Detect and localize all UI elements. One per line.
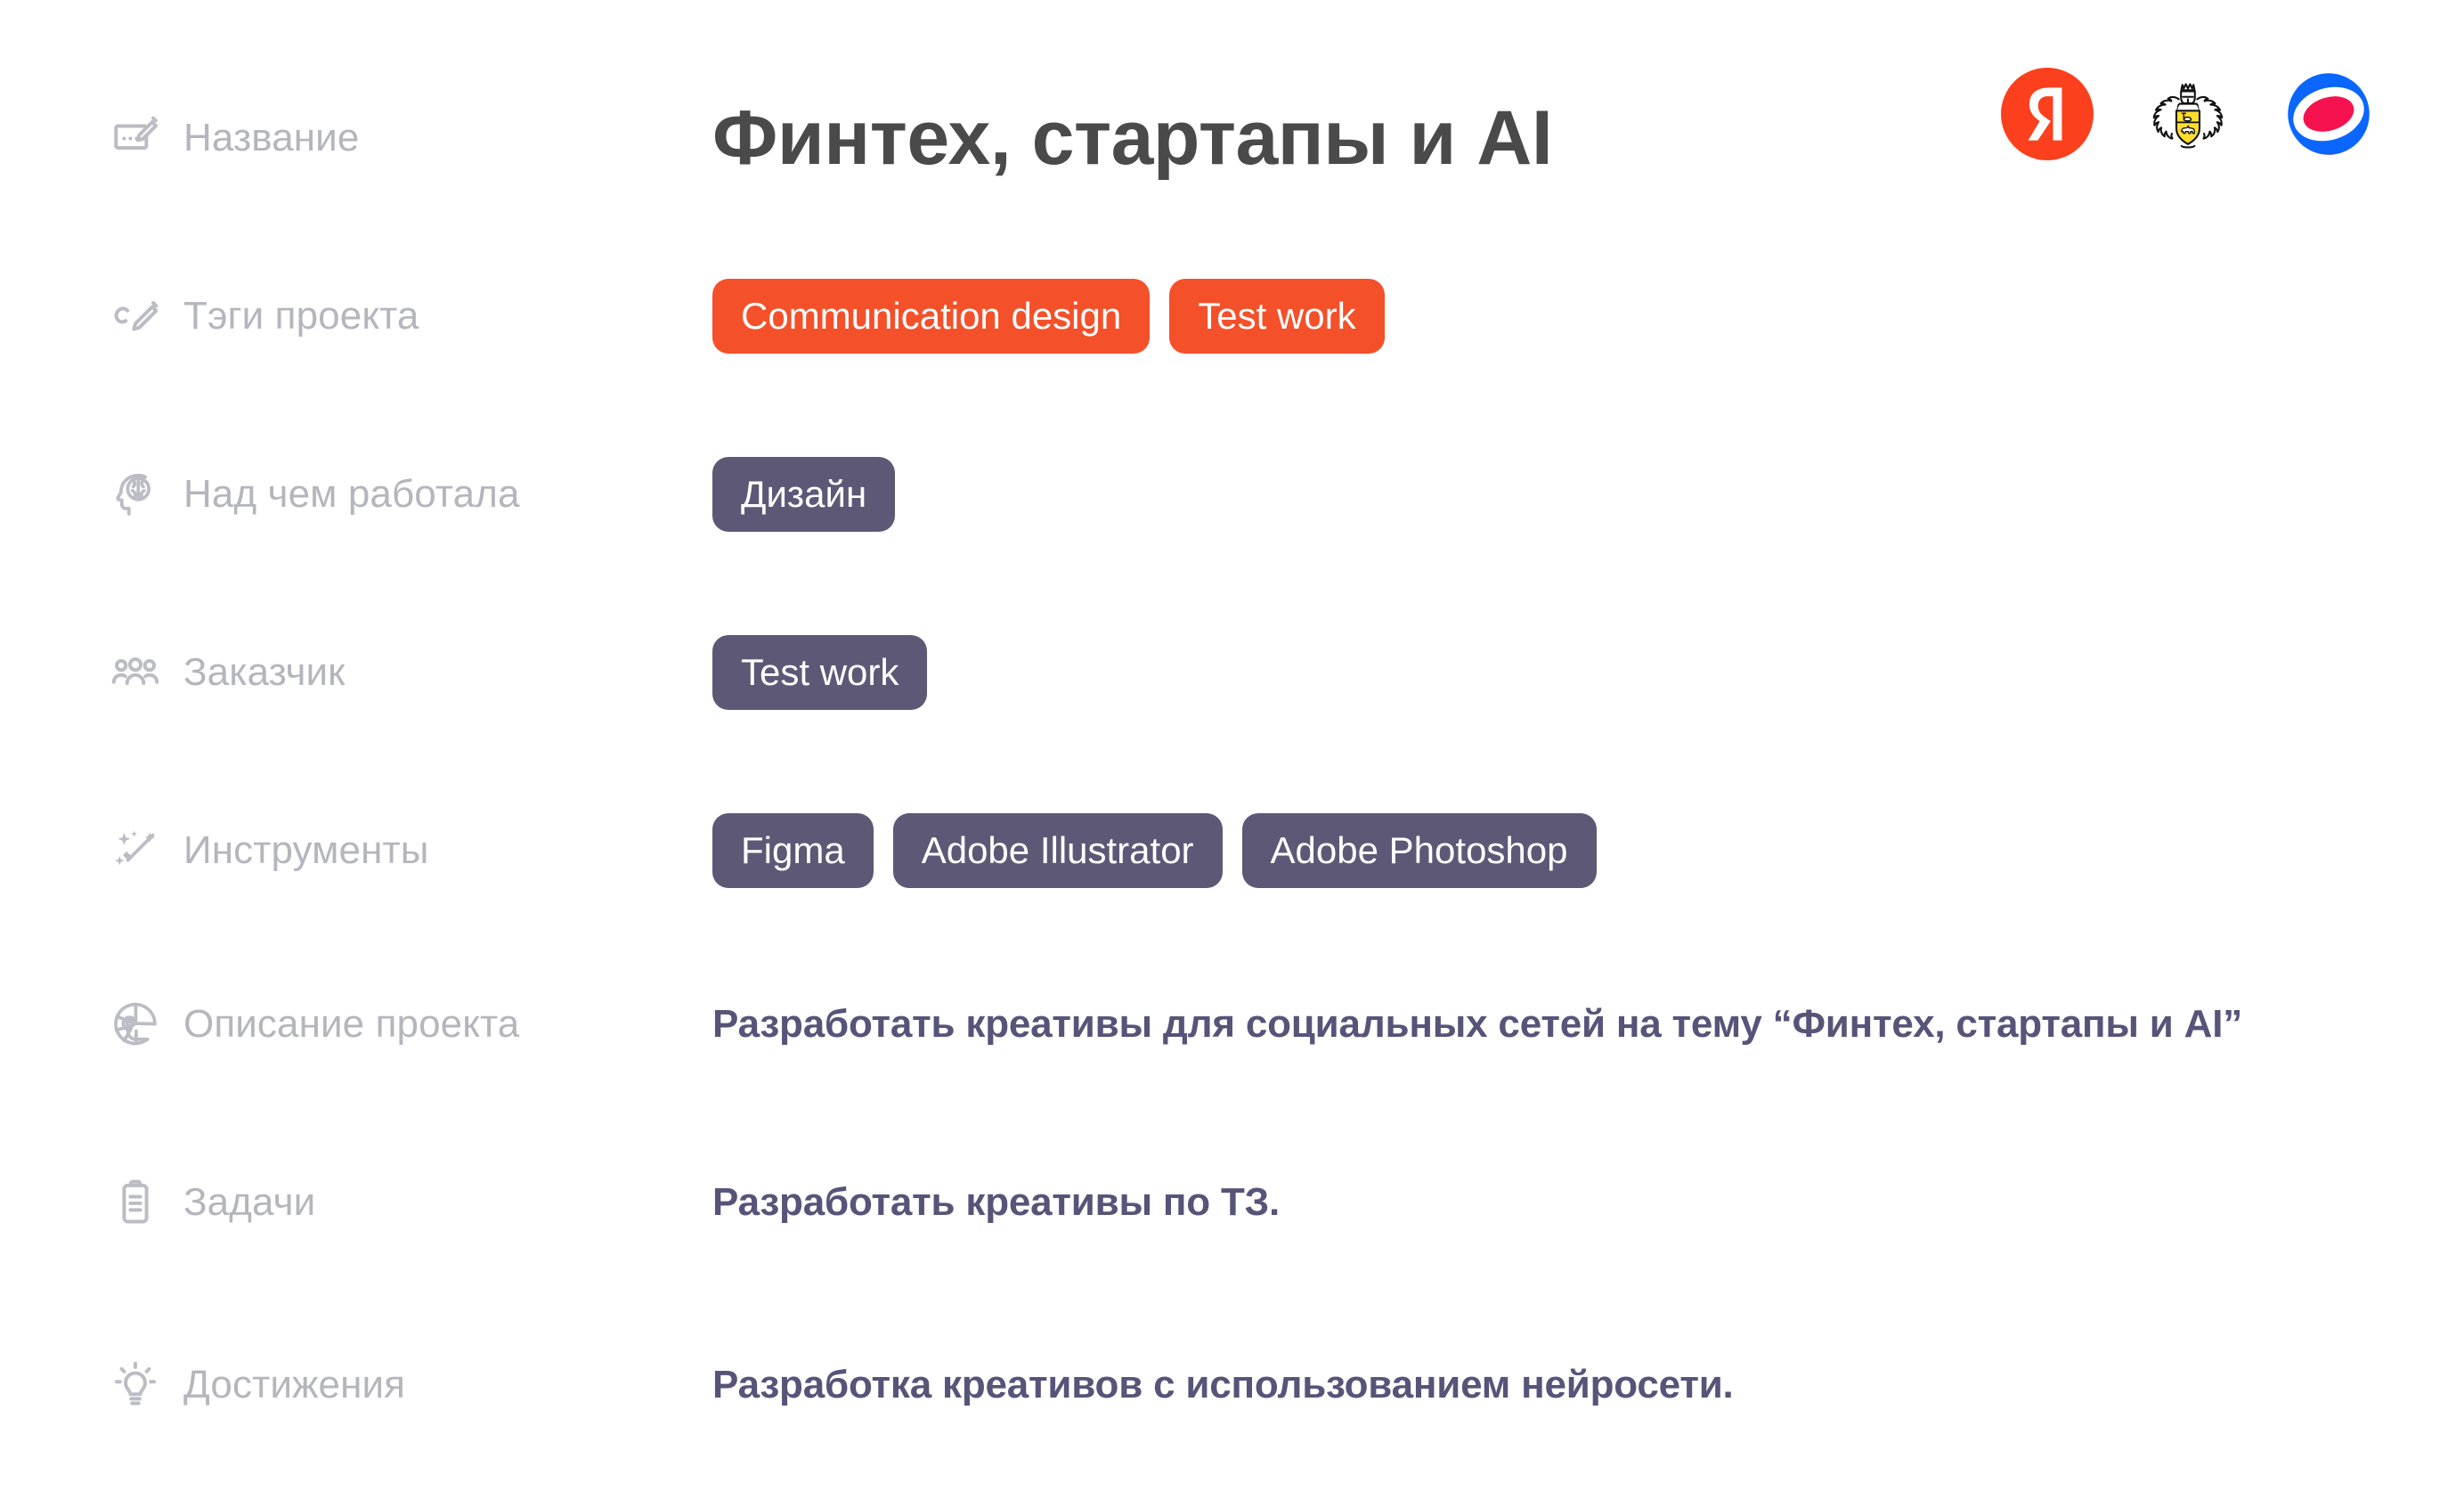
row-tasks-value-cell: Разработать креативы по ТЗ. (712, 1141, 2464, 1265)
magic-wand-icon (110, 826, 160, 876)
card-pencil-icon (110, 113, 160, 163)
signature-pen-icon (110, 291, 160, 341)
brain-head-icon (110, 469, 160, 519)
row-description: Описание проекта Разработать креативы дл… (0, 984, 2464, 1064)
tag-chip[interactable]: Communication design (712, 279, 1150, 354)
tool-chip[interactable]: Adobe Photoshop (1242, 813, 1597, 888)
row-tasks-label: Задачи (183, 1183, 315, 1222)
row-worked-on-label: Над чем работала (183, 475, 520, 514)
row-tools-value-cell: Figma Adobe Illustrator Adobe Photoshop (712, 813, 2464, 888)
row-tasks: Задачи Разработать креативы по ТЗ. (0, 1162, 2464, 1243)
row-description-value-cell: Разработать креативы для социальных сете… (712, 963, 2464, 1087)
row-client-value-cell: Test work (712, 635, 2464, 710)
people-group-icon (110, 648, 160, 697)
row-achievements-label-cell: Достижения (0, 1360, 712, 1410)
tasks-text: Разработать креативы по ТЗ. (712, 1180, 1280, 1226)
clipboard-icon (110, 1178, 160, 1227)
description-text: Разработать креативы для социальных сете… (712, 1002, 2242, 1047)
project-card: Название Финтех, стартапы и AI Тэги прое… (0, 0, 2464, 1508)
row-title-value-cell: Финтех, стартапы и AI (712, 48, 2464, 227)
row-worked-on-value-cell: Дизайн (712, 457, 2464, 532)
row-tools-label: Инструменты (183, 831, 428, 870)
row-client-label-cell: Заказчик (0, 648, 712, 697)
row-client: Заказчик Test work (0, 632, 2464, 713)
tool-chip[interactable]: Adobe Illustrator (893, 813, 1223, 888)
row-achievements: Достижения Разработка креативов с исполь… (0, 1345, 2464, 1425)
row-tags-label-cell: Тэги проекта (0, 291, 712, 341)
row-title-label: Название (183, 118, 359, 158)
row-tags-label: Тэги проекта (183, 297, 419, 336)
row-description-label-cell: Описание проекта (0, 999, 712, 1049)
page-title: Финтех, стартапы и AI (712, 100, 1552, 176)
row-achievements-label: Достижения (183, 1365, 405, 1405)
row-tags-value-cell: Communication design Test work (712, 279, 2464, 354)
tool-chip[interactable]: Figma (712, 813, 874, 888)
achievements-text: Разработка креативов с использованием не… (712, 1363, 1734, 1408)
row-tools-label-cell: Инструменты (0, 826, 712, 876)
row-tasks-label-cell: Задачи (0, 1178, 712, 1227)
row-tags: Тэги проекта Communication design Test w… (0, 276, 2464, 356)
tag-chip[interactable]: Test work (1169, 279, 1384, 354)
row-client-label: Заказчик (183, 653, 346, 692)
row-title: Название Финтех, стартапы и AI (0, 98, 2464, 178)
lightbulb-icon (110, 1360, 160, 1410)
row-tools: Инструменты Figma Adobe Illustrator Adob… (0, 811, 2464, 891)
row-description-label: Описание проекта (183, 1005, 519, 1044)
row-achievements-value-cell: Разработка креативов с использованием не… (712, 1324, 2464, 1447)
nautilus-shell-icon (110, 999, 160, 1049)
worked-on-chip[interactable]: Дизайн (712, 457, 895, 532)
row-worked-on-label-cell: Над чем работала (0, 469, 712, 519)
row-title-label-cell: Название (0, 113, 712, 163)
client-chip[interactable]: Test work (712, 635, 927, 710)
row-worked-on: Над чем работала Дизайн (0, 454, 2464, 534)
